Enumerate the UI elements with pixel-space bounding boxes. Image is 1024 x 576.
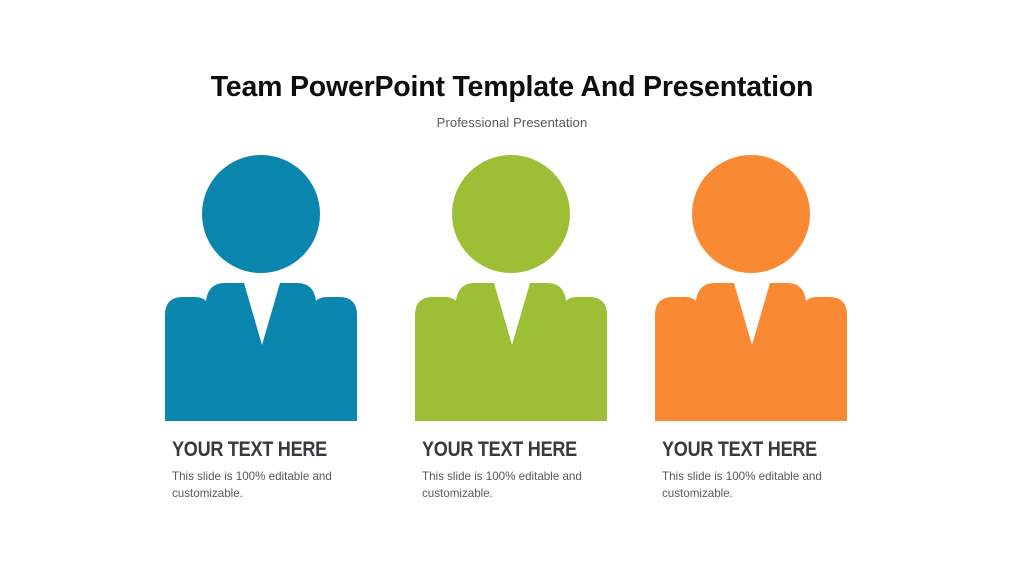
- team-member-card[interactable]: YOUR TEXT HERE This slide is 100% editab…: [413, 155, 609, 425]
- person-silhouette-icon: [653, 155, 849, 425]
- team-members-row: YOUR TEXT HERE This slide is 100% editab…: [0, 0, 1024, 576]
- team-member-text: YOUR TEXT HERE This slide is 100% editab…: [172, 438, 358, 502]
- team-member-description: This slide is 100% editable and customiz…: [662, 469, 834, 502]
- team-member-card[interactable]: YOUR TEXT HERE This slide is 100% editab…: [163, 155, 359, 425]
- team-member-heading: YOUR TEXT HERE: [422, 438, 582, 462]
- person-silhouette-icon: [163, 155, 359, 425]
- team-member-heading: YOUR TEXT HERE: [172, 438, 332, 462]
- person-head-icon: [452, 155, 570, 273]
- team-member-description: This slide is 100% editable and customiz…: [172, 469, 344, 502]
- team-member-text: YOUR TEXT HERE This slide is 100% editab…: [422, 438, 608, 502]
- team-member-description: This slide is 100% editable and customiz…: [422, 469, 594, 502]
- team-member-heading: YOUR TEXT HERE: [662, 438, 822, 462]
- person-head-icon: [692, 155, 810, 273]
- slide-canvas: Team PowerPoint Template And Presentatio…: [0, 0, 1024, 576]
- team-member-text: YOUR TEXT HERE This slide is 100% editab…: [662, 438, 848, 502]
- person-head-icon: [202, 155, 320, 273]
- person-silhouette-icon: [413, 155, 609, 425]
- team-member-card[interactable]: YOUR TEXT HERE This slide is 100% editab…: [653, 155, 849, 425]
